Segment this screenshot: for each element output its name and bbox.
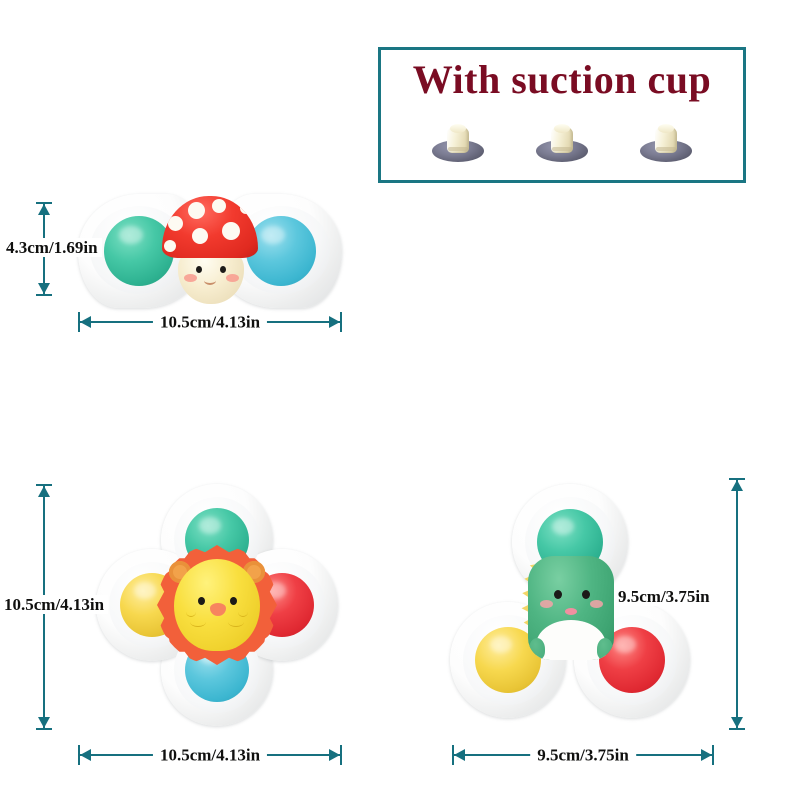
mushroom-cap-dot [192, 228, 208, 244]
mushroom-eye-left [196, 266, 202, 273]
dimension-bar [736, 478, 738, 730]
dimension-cap-bottom [36, 728, 52, 730]
lion-whisker-left-upper [186, 607, 196, 617]
lion-height-label: 10.5cm/4.13in [0, 595, 108, 614]
mushroom-cap-dot [240, 202, 252, 214]
dimension-arrowhead-up [731, 480, 743, 491]
infographic-canvas: With suction cup [0, 0, 800, 800]
mushroom-cap-dot [168, 216, 183, 231]
mushroom-mouth [204, 276, 216, 285]
dino-mouth [565, 608, 577, 615]
lion-eye-right [230, 597, 237, 605]
mushroom-cheek-left [184, 274, 197, 282]
mushroom-character-face [162, 196, 258, 306]
dimension-arrowhead-down [38, 717, 50, 728]
suction-cup-icon-2 [534, 120, 590, 162]
dimension-arrowhead-right [329, 316, 340, 328]
lion-character-face [157, 545, 277, 665]
dino-eye-right [582, 590, 590, 599]
dino-height-dimension-line [727, 478, 747, 730]
dimension-arrowhead-down [38, 283, 50, 294]
lion-whisker-right [228, 617, 244, 627]
dino-body [528, 556, 614, 660]
dino-height-label: 9.5cm/3.75in [614, 587, 714, 606]
mushroom-cap-dot [222, 222, 240, 240]
dimension-arrowhead-right [329, 749, 340, 761]
lion-nose [210, 603, 226, 616]
suction-cup-banner-title: With suction cup [381, 56, 743, 103]
dimension-arrowhead-left [80, 316, 91, 328]
dimension-arrowhead-left [80, 749, 91, 761]
mushroom-cap [162, 196, 258, 258]
lion-whisker-left [190, 617, 206, 627]
dimension-cap-right [340, 745, 342, 765]
suction-cup-icon-3 [638, 120, 694, 162]
mushroom-width-label: 10.5cm/4.13in [153, 314, 267, 331]
lion-whisker-right-upper [238, 607, 248, 617]
mushroom-spinner-toy [78, 192, 342, 310]
dimension-cap-right [712, 745, 714, 765]
dino-character-face [510, 548, 630, 676]
mushroom-cheek-right [226, 274, 239, 282]
lion-eye-left [198, 597, 205, 605]
suction-cup-knob [551, 127, 573, 153]
dimension-arrowhead-right [701, 749, 712, 761]
suction-cup-row [381, 116, 743, 162]
suction-cup-knob [447, 127, 469, 153]
mushroom-cap-dot [188, 202, 205, 219]
mushroom-eye-right [220, 266, 226, 273]
dimension-cap-bottom [36, 294, 52, 296]
dimension-arrowhead-left [454, 749, 465, 761]
dino-cheek-right [590, 600, 603, 608]
mushroom-cap-dot [164, 240, 176, 252]
suction-cup-knob [655, 127, 677, 153]
lion-width-label: 10.5cm/4.13in [153, 747, 267, 764]
mushroom-cap-dot [212, 199, 226, 213]
dino-width-label: 9.5cm/3.75in [530, 747, 636, 764]
dimension-arrowhead-up [38, 204, 50, 215]
dino-width-dimension-line: 9.5cm/3.75in [452, 745, 714, 765]
suction-cup-icon-1 [430, 120, 486, 162]
dino-cheek-left [540, 600, 553, 608]
dino-eye-left [554, 590, 562, 599]
dimension-cap-right [340, 312, 342, 332]
lion-width-dimension-line: 10.5cm/4.13in [78, 745, 342, 765]
suction-cup-banner: With suction cup [378, 47, 746, 183]
lion-spinner-toy [96, 484, 338, 726]
dimension-cap-bottom [729, 728, 745, 730]
dino-belly [536, 620, 606, 660]
lion-head [174, 559, 260, 651]
mushroom-width-dimension-line: 10.5cm/4.13in [78, 312, 342, 332]
mushroom-height-label: 4.3cm/1.69in [2, 238, 102, 257]
dimension-arrowhead-down [731, 717, 743, 728]
dimension-arrowhead-up [38, 486, 50, 497]
